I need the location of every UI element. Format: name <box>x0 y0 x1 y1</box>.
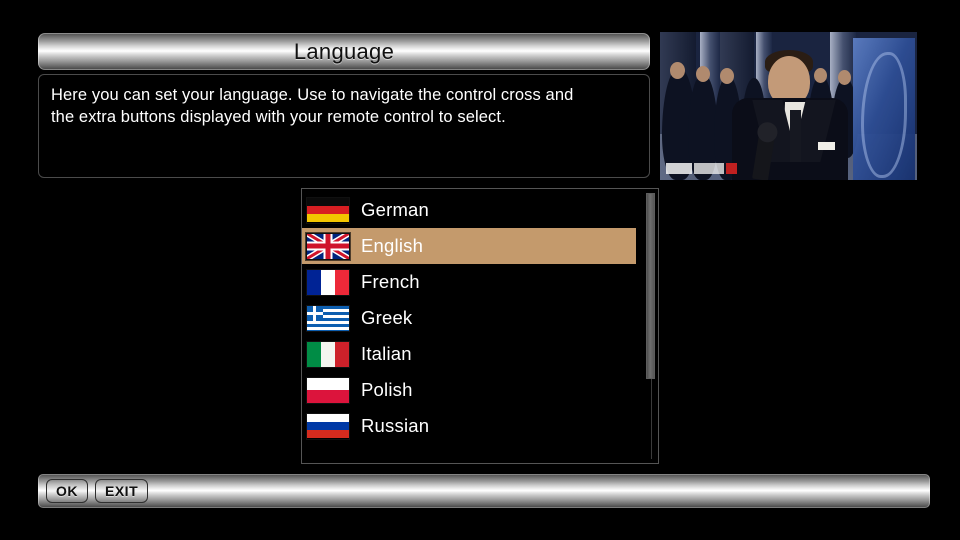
video-crowd <box>670 62 685 79</box>
flag-icon-russian <box>306 413 350 440</box>
live-tv-preview[interactable] <box>660 32 917 180</box>
list-item[interactable]: Russian <box>302 408 636 444</box>
list-item-label: French <box>361 273 420 292</box>
list-item-label: Italian <box>361 345 412 364</box>
flag-icon-french <box>306 269 350 296</box>
flag-icon-polish <box>306 377 350 404</box>
list-item[interactable]: English <box>302 228 636 264</box>
video-crowd <box>720 68 734 84</box>
language-list: German English French <box>302 192 636 444</box>
list-item-label: Polish <box>361 381 413 400</box>
list-item-label: German <box>361 201 429 220</box>
list-item-label: English <box>361 237 423 256</box>
ok-button[interactable]: OK <box>46 479 88 503</box>
channel-logo-bug <box>666 163 737 174</box>
list-item[interactable]: Greek <box>302 300 636 336</box>
tv-settings-screen: Language Here you can set your language.… <box>0 0 960 540</box>
list-item[interactable]: German <box>302 192 636 228</box>
video-crowd <box>838 70 851 85</box>
exit-button[interactable]: EXIT <box>95 479 148 503</box>
help-description-text: Here you can set your language. Use to n… <box>51 85 637 129</box>
list-item[interactable]: Polish <box>302 372 636 408</box>
flag-icon-greek <box>306 305 350 332</box>
video-reporter-tie <box>790 110 801 162</box>
flag-icon-english <box>306 233 350 260</box>
list-item-label: Greek <box>361 309 412 328</box>
video-reporter-body <box>732 98 848 180</box>
list-item-label: Russian <box>361 417 429 436</box>
video-crowd <box>696 66 710 82</box>
flag-icon-german <box>306 197 350 224</box>
flag-icon-italian <box>306 341 350 368</box>
video-reporter-pocket-square <box>818 142 835 150</box>
scrollbar-thumb[interactable] <box>646 193 655 379</box>
page-title: Language <box>294 41 394 63</box>
video-crowd <box>814 68 827 83</box>
help-description-panel: Here you can set your language. Use to n… <box>38 74 650 178</box>
video-sculpture <box>853 38 915 180</box>
list-item[interactable]: Italian <box>302 336 636 372</box>
bottom-action-bar: OK EXIT <box>38 474 930 508</box>
page-title-bar: Language <box>38 33 650 70</box>
language-list-panel[interactable]: German English French <box>301 188 659 464</box>
list-item[interactable]: French <box>302 264 636 300</box>
